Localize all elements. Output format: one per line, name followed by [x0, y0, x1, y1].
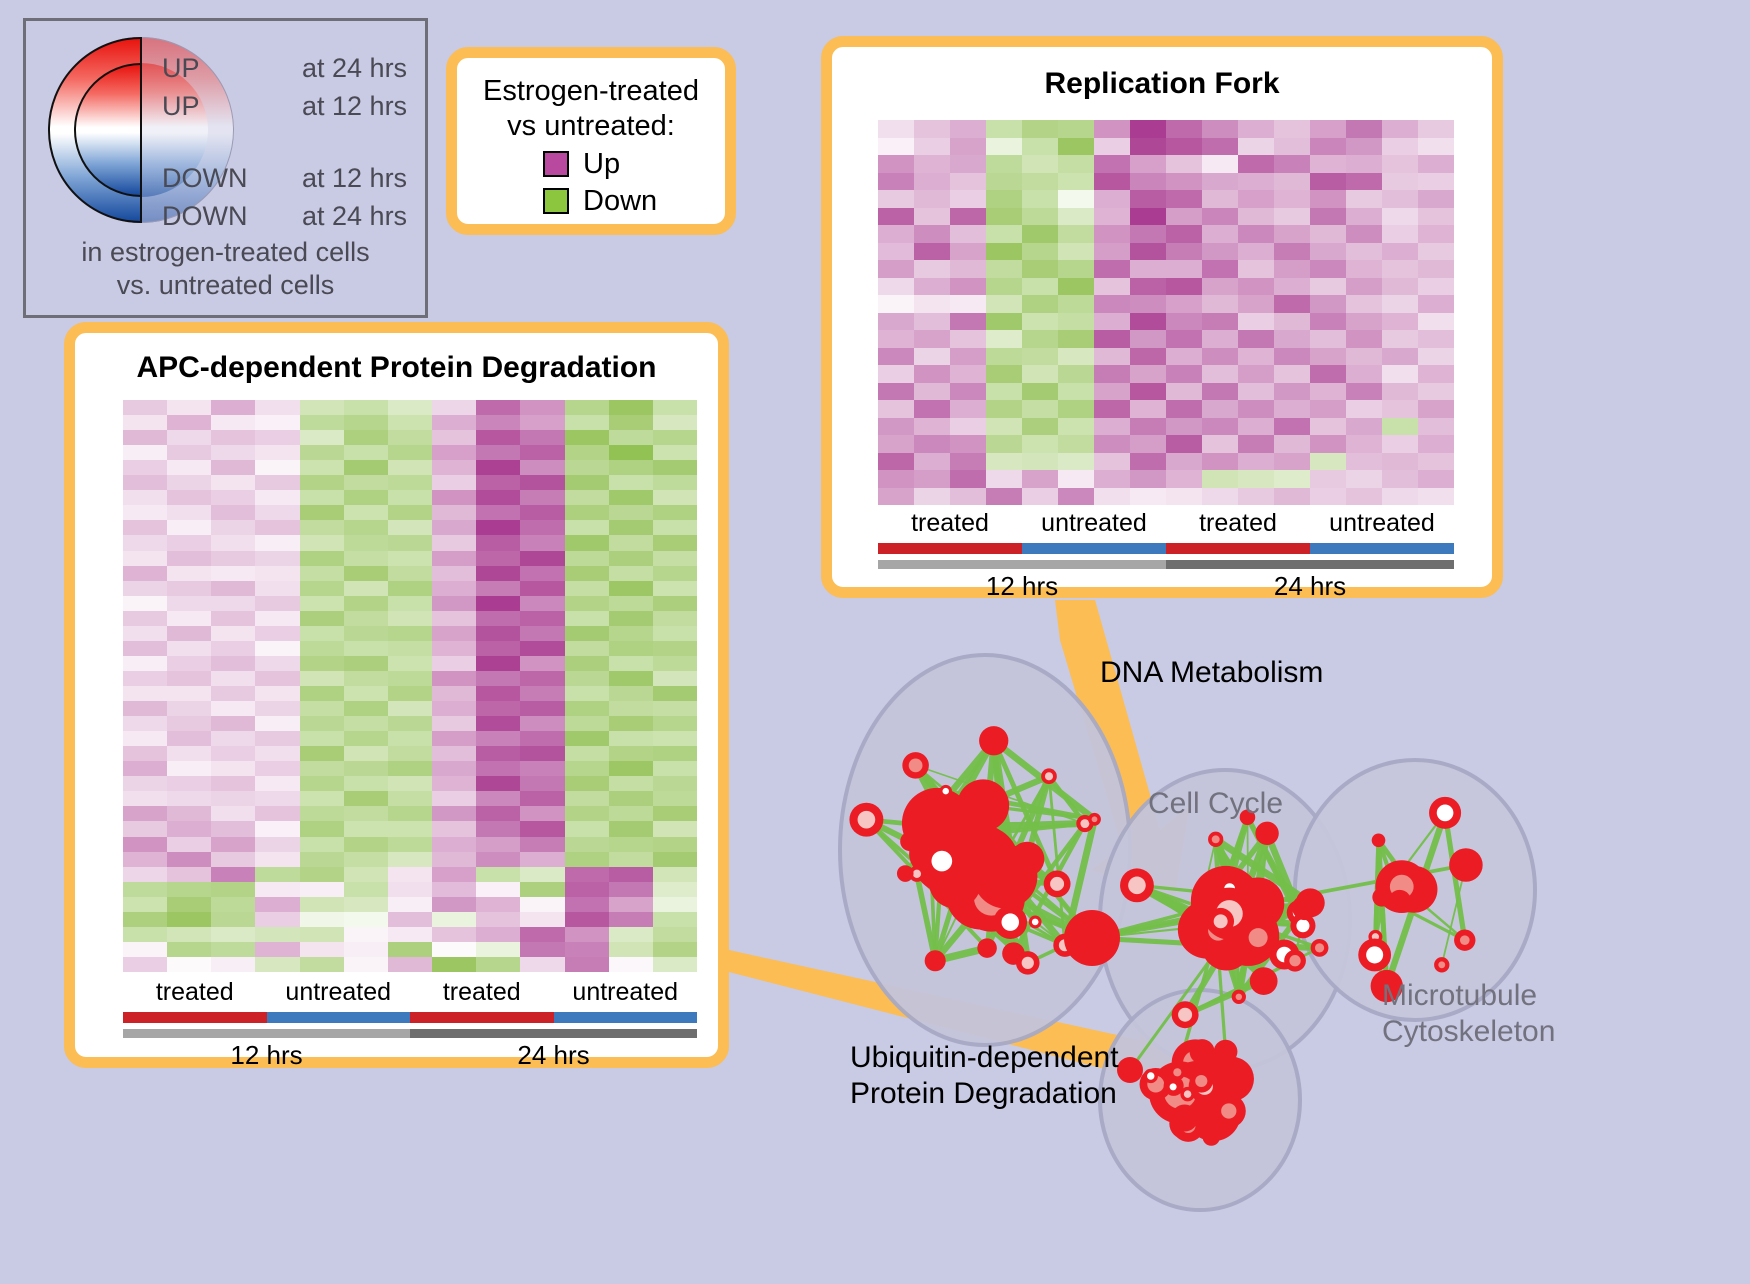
heatmap-cell	[565, 566, 609, 581]
estrogen-legend-item-down: Down	[543, 185, 725, 218]
heatmap-cell	[1094, 260, 1130, 278]
heatmap-cell	[1022, 260, 1058, 278]
heatmap-cell	[388, 701, 432, 716]
heatmap-cell	[388, 731, 432, 746]
heatmap-cell	[432, 686, 476, 701]
heatmap-cell	[211, 867, 255, 882]
heatmap-cell	[1274, 470, 1310, 488]
heatmap-cell	[432, 596, 476, 611]
cluster-label-dna-metabolism: DNA Metabolism	[1100, 655, 1323, 691]
heatmap-cell	[211, 746, 255, 761]
heatmap-cell	[123, 596, 167, 611]
heatmap-cell	[167, 761, 211, 776]
heatmap-cell	[432, 490, 476, 505]
heatmap-cell	[1418, 120, 1454, 138]
heatmap-cell	[476, 475, 520, 490]
heatmap-cell	[211, 551, 255, 566]
heatmap-cell	[167, 551, 211, 566]
heatmap-cell	[1094, 190, 1130, 208]
heatmap-cell	[609, 957, 653, 972]
heatmap-cell	[565, 400, 609, 415]
heatmap-cell	[344, 716, 388, 731]
heatmap-cell	[520, 415, 564, 430]
heatmap-cell	[609, 776, 653, 791]
heatmap-cell	[520, 596, 564, 611]
heatmap-cell	[1274, 453, 1310, 471]
legend-value-up12: at 12 hrs	[302, 91, 407, 122]
heatmap-cell	[388, 415, 432, 430]
heatmap-cell	[1202, 453, 1238, 471]
heatmap-cell	[914, 138, 950, 156]
heatmap-cell	[1310, 418, 1346, 436]
heatmap-cell	[950, 138, 986, 156]
heatmap-cell	[609, 611, 653, 626]
heatmap-cell	[1346, 400, 1382, 418]
heatmap-cell	[1418, 243, 1454, 261]
heatmap-cell	[255, 415, 299, 430]
heatmap-cell	[1058, 225, 1094, 243]
heatmap-cell	[432, 535, 476, 550]
heatmap-cell	[1346, 173, 1382, 191]
heatmap-cell	[565, 641, 609, 656]
heatmap-cell	[432, 581, 476, 596]
legend-footer-line1: in estrogen-treated cells	[26, 236, 425, 269]
heatmap-cell	[950, 453, 986, 471]
heatmap-cell	[986, 330, 1022, 348]
heatmap-cell	[1130, 330, 1166, 348]
heatmap-cell	[950, 190, 986, 208]
heatmap-cell	[211, 445, 255, 460]
heatmap-cell	[1418, 330, 1454, 348]
heatmap-cell	[1022, 225, 1058, 243]
heatmap-cell	[1022, 400, 1058, 418]
apc-degradation-card: APC-dependent Protein Degradation treate…	[64, 322, 729, 1068]
heatmap-cell	[432, 415, 476, 430]
heatmap-cell	[565, 942, 609, 957]
heatmap-cell	[300, 520, 344, 535]
heatmap-cell	[388, 475, 432, 490]
heatmap-cell	[388, 535, 432, 550]
heatmap-cell	[476, 520, 520, 535]
heatmap-cell	[211, 490, 255, 505]
heatmap-cell	[1238, 208, 1274, 226]
heatmap-cell	[476, 776, 520, 791]
heatmap-cell	[653, 716, 697, 731]
heatmap-cell	[520, 581, 564, 596]
heatmap-cell	[255, 445, 299, 460]
heatmap-cell	[609, 430, 653, 445]
group-label-1: untreated	[267, 978, 411, 1007]
heatmap-cell	[388, 686, 432, 701]
heatmap-cell	[1130, 155, 1166, 173]
heatmap-cell	[388, 611, 432, 626]
heatmap-cell	[344, 806, 388, 821]
heatmap-cell	[1274, 365, 1310, 383]
heatmap-cell	[476, 430, 520, 445]
heatmap-cell	[653, 942, 697, 957]
heatmap-cell	[476, 626, 520, 641]
heatmap-cell	[255, 671, 299, 686]
heatmap-cell	[432, 761, 476, 776]
heatmap-cell	[1382, 330, 1418, 348]
down-color-swatch	[543, 188, 569, 214]
heatmap-cell	[878, 383, 914, 401]
heatmap-cell	[476, 671, 520, 686]
heatmap-cell	[878, 488, 914, 506]
heatmap-cell	[1274, 313, 1310, 331]
heatmap-cell	[878, 313, 914, 331]
heatmap-cell	[520, 686, 564, 701]
heatmap-cell	[344, 460, 388, 475]
heatmap-cell	[1238, 173, 1274, 191]
heatmap-cell	[878, 190, 914, 208]
heatmap-cell	[653, 641, 697, 656]
heatmap-cell	[432, 731, 476, 746]
heatmap-cell	[1274, 190, 1310, 208]
heatmap-cell	[1238, 243, 1274, 261]
heatmap-cell	[388, 821, 432, 836]
heatmap-cell	[211, 957, 255, 972]
heatmap-cell	[1274, 383, 1310, 401]
heatmap-cell	[950, 313, 986, 331]
heatmap-cell	[211, 882, 255, 897]
heatmap-cell	[609, 821, 653, 836]
heatmap-cell	[1166, 400, 1202, 418]
heatmap-cell	[878, 470, 914, 488]
heatmap-cell	[986, 383, 1022, 401]
heatmap-cell	[1310, 435, 1346, 453]
legend-footer-line2: vs. untreated cells	[26, 269, 425, 302]
circle-divider	[140, 37, 142, 223]
heatmap-cell	[986, 120, 1022, 138]
heatmap-cell	[653, 791, 697, 806]
heatmap-cell	[1382, 260, 1418, 278]
heatmap-cell	[914, 225, 950, 243]
heatmap-cell	[432, 505, 476, 520]
heatmap-cell	[1130, 138, 1166, 156]
heatmap-cell	[1022, 278, 1058, 296]
heatmap-cell	[255, 852, 299, 867]
heatmap-cell	[476, 505, 520, 520]
group-label-0: treated	[878, 509, 1022, 538]
time-bar-1	[1166, 560, 1454, 569]
heatmap-cell	[255, 505, 299, 520]
heatmap-cell	[1058, 278, 1094, 296]
heatmap-cell	[123, 415, 167, 430]
heatmap-cell	[1094, 295, 1130, 313]
heatmap-cell	[211, 942, 255, 957]
heatmap-cell	[123, 867, 167, 882]
heatmap-cell	[167, 837, 211, 852]
heatmap-cell	[520, 701, 564, 716]
heatmap-cell	[255, 731, 299, 746]
network-svg	[770, 600, 1750, 1279]
heatmap-cell	[653, 927, 697, 942]
heatmap-cell	[986, 138, 1022, 156]
heatmap-cell	[167, 686, 211, 701]
group-bar-0	[123, 1012, 267, 1023]
heatmap-cell	[167, 581, 211, 596]
heatmap-cell	[1058, 400, 1094, 418]
heatmap-cell	[1274, 400, 1310, 418]
heatmap-cell	[123, 897, 167, 912]
heatmap-cell	[167, 746, 211, 761]
heatmap-cell	[388, 852, 432, 867]
heatmap-cell	[609, 867, 653, 882]
heatmap-cell	[476, 596, 520, 611]
heatmap-cell	[986, 295, 1022, 313]
heatmap-cell	[565, 701, 609, 716]
heatmap-cell	[344, 701, 388, 716]
heatmap-cell	[211, 611, 255, 626]
heatmap-cell	[520, 400, 564, 415]
heatmap-cell	[167, 566, 211, 581]
heatmap-cell	[986, 190, 1022, 208]
heatmap-cell	[1382, 120, 1418, 138]
expression-circle-legend: UP at 24 hrs UP at 12 hrs DOWN at 12 hrs…	[23, 18, 428, 318]
heatmap-cell	[1238, 418, 1274, 436]
heatmap-cell	[565, 686, 609, 701]
heatmap-cell	[211, 912, 255, 927]
heatmap-cell	[914, 155, 950, 173]
heatmap-cell	[211, 460, 255, 475]
heatmap-cell	[1094, 383, 1130, 401]
heatmap-cell	[432, 475, 476, 490]
heatmap-cell	[520, 776, 564, 791]
heatmap-cell	[255, 581, 299, 596]
heatmap-cell	[1022, 173, 1058, 191]
heatmap-cell	[211, 566, 255, 581]
heatmap-cell	[1022, 208, 1058, 226]
heatmap-cell	[1094, 208, 1130, 226]
heatmap-cell	[211, 671, 255, 686]
heatmap-cell	[167, 611, 211, 626]
heatmap-cell	[653, 852, 697, 867]
heatmap-cell	[388, 957, 432, 972]
heatmap-cell	[914, 418, 950, 436]
heatmap-cell	[300, 551, 344, 566]
heatmap-cell	[1094, 418, 1130, 436]
heatmap-cell	[211, 686, 255, 701]
heatmap-cell	[344, 671, 388, 686]
group-bar-1	[1022, 543, 1166, 554]
heatmap-cell	[300, 776, 344, 791]
heatmap-cell	[1310, 190, 1346, 208]
heatmap-cell	[1130, 295, 1166, 313]
heatmap-cell	[344, 882, 388, 897]
heatmap-cell	[123, 731, 167, 746]
heatmap-cell	[1418, 488, 1454, 506]
heatmap-cell	[1274, 208, 1310, 226]
heatmap-cell	[1202, 488, 1238, 506]
heatmap-cell	[1094, 313, 1130, 331]
heatmap-cell	[1202, 120, 1238, 138]
heatmap-cell	[1022, 470, 1058, 488]
heatmap-cell	[520, 806, 564, 821]
heatmap-cell	[255, 927, 299, 942]
heatmap-cell	[123, 626, 167, 641]
heatmap-cell	[1166, 260, 1202, 278]
heatmap-cell	[211, 837, 255, 852]
heatmap-cell	[123, 535, 167, 550]
heatmap-cell	[565, 671, 609, 686]
heatmap-cell	[167, 927, 211, 942]
heatmap-cell	[1382, 365, 1418, 383]
heatmap-cell	[565, 957, 609, 972]
heatmap-cell	[565, 611, 609, 626]
heatmap-cell	[1166, 348, 1202, 366]
heatmap-cell	[1382, 418, 1418, 436]
heatmap-cell	[1238, 348, 1274, 366]
heatmap-cell	[520, 852, 564, 867]
heatmap-cell	[167, 867, 211, 882]
heatmap-cell	[1058, 208, 1094, 226]
heatmap-cell	[344, 566, 388, 581]
heatmap-cell	[1382, 243, 1418, 261]
heatmap-cell	[1022, 138, 1058, 156]
heatmap-cell	[1382, 488, 1418, 506]
heatmap-cell	[300, 882, 344, 897]
heatmap-cell	[300, 430, 344, 445]
time-label-24: 24 hrs	[1166, 571, 1454, 602]
heatmap-cell	[1418, 225, 1454, 243]
heatmap-cell	[167, 942, 211, 957]
heatmap-cell	[609, 882, 653, 897]
heatmap-cell	[255, 716, 299, 731]
heatmap-cell	[300, 445, 344, 460]
heatmap-cell	[344, 626, 388, 641]
heatmap-cell	[388, 912, 432, 927]
heatmap-cell	[878, 400, 914, 418]
heatmap-cell	[476, 957, 520, 972]
heatmap-cell	[1238, 155, 1274, 173]
heatmap-cell	[211, 505, 255, 520]
heatmap-cell	[388, 430, 432, 445]
heatmap-cell	[344, 731, 388, 746]
heatmap-cell	[167, 641, 211, 656]
heatmap-cell	[255, 656, 299, 671]
heatmap-cell	[565, 505, 609, 520]
heatmap-cell	[1238, 120, 1274, 138]
heatmap-cell	[476, 641, 520, 656]
heatmap-cell	[1022, 488, 1058, 506]
heatmap-cell	[653, 776, 697, 791]
heatmap-cell	[609, 671, 653, 686]
heatmap-cell	[914, 260, 950, 278]
heatmap-cell	[344, 821, 388, 836]
heatmap-cell	[609, 490, 653, 505]
heatmap-cell	[565, 475, 609, 490]
heatmap-cell	[300, 686, 344, 701]
heatmap-cell	[1022, 120, 1058, 138]
heatmap-cell	[1058, 383, 1094, 401]
heatmap-cell	[123, 776, 167, 791]
heatmap-cell	[476, 837, 520, 852]
heatmap-cell	[1130, 173, 1166, 191]
group-bar-2	[410, 1012, 554, 1023]
heatmap-cell	[609, 475, 653, 490]
heatmap-cell	[344, 505, 388, 520]
heatmap-cell	[1202, 348, 1238, 366]
heatmap-cell	[476, 852, 520, 867]
heatmap-cell	[986, 155, 1022, 173]
heatmap-cell	[565, 731, 609, 746]
heatmap-cell	[520, 746, 564, 761]
heatmap-cell	[211, 731, 255, 746]
heatmap-cell	[255, 520, 299, 535]
heatmap-cell	[123, 430, 167, 445]
heatmap-cell	[878, 295, 914, 313]
heatmap-cell	[1238, 435, 1274, 453]
heatmap-cell	[432, 641, 476, 656]
heatmap-cell	[476, 566, 520, 581]
heatmap-cell	[1382, 278, 1418, 296]
heatmap-cell	[255, 641, 299, 656]
heatmap-cell	[914, 278, 950, 296]
heatmap-cell	[609, 641, 653, 656]
heatmap-cell	[1418, 260, 1454, 278]
heatmap-cell	[520, 761, 564, 776]
heatmap-cell	[300, 852, 344, 867]
heatmap-cell	[300, 566, 344, 581]
cluster-label-microtubule: Microtubule	[1382, 978, 1537, 1014]
heatmap-cell	[520, 656, 564, 671]
heatmap-cell	[1382, 225, 1418, 243]
apc-time-labels: 12 hrs 24 hrs	[123, 1040, 697, 1071]
heatmap-cell	[653, 837, 697, 852]
heatmap-cell	[123, 942, 167, 957]
heatmap-cell	[432, 942, 476, 957]
heatmap-cell	[1274, 278, 1310, 296]
heatmap-cell	[167, 731, 211, 746]
heatmap-cell	[1094, 435, 1130, 453]
heatmap-cell	[211, 821, 255, 836]
heatmap-cell	[565, 520, 609, 535]
heatmap-cell	[1418, 155, 1454, 173]
heatmap-cell	[211, 791, 255, 806]
heatmap-cell	[950, 348, 986, 366]
heatmap-cell	[1094, 330, 1130, 348]
heatmap-cell	[211, 400, 255, 415]
heatmap-cell	[123, 656, 167, 671]
heatmap-cell	[255, 806, 299, 821]
heatmap-cell	[123, 520, 167, 535]
heatmap-cell	[123, 686, 167, 701]
heatmap-cell	[1418, 313, 1454, 331]
heatmap-cell	[167, 475, 211, 490]
heatmap-cell	[1094, 348, 1130, 366]
heatmap-cell	[344, 596, 388, 611]
heatmap-cell	[1346, 418, 1382, 436]
heatmap-cell	[950, 155, 986, 173]
heatmap-cell	[255, 490, 299, 505]
heatmap-cell	[653, 430, 697, 445]
heatmap-cell	[986, 418, 1022, 436]
heatmap-cell	[1166, 225, 1202, 243]
heatmap-cell	[520, 641, 564, 656]
heatmap-cell	[344, 430, 388, 445]
heatmap-cell	[211, 581, 255, 596]
heatmap-cell	[1202, 138, 1238, 156]
heatmap-cell	[300, 957, 344, 972]
heatmap-cell	[653, 626, 697, 641]
heatmap-cell	[609, 701, 653, 716]
heatmap-cell	[1058, 453, 1094, 471]
heatmap-cell	[653, 490, 697, 505]
heatmap-cell	[1058, 155, 1094, 173]
heatmap-cell	[1094, 243, 1130, 261]
heatmap-cell	[432, 821, 476, 836]
